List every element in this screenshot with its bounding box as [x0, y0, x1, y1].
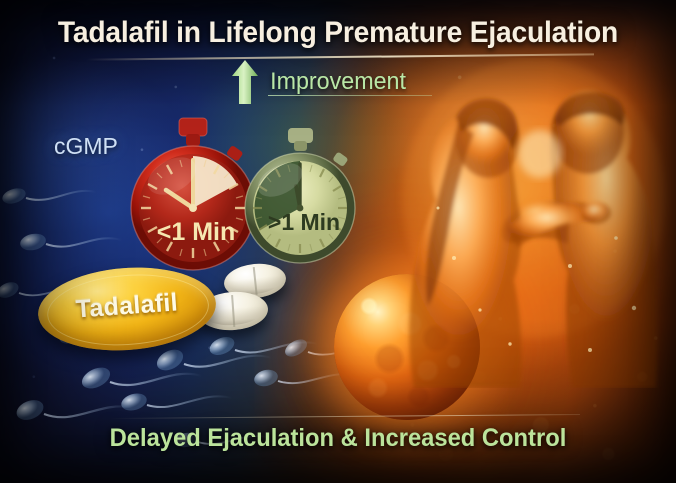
cgmp-label: cGMP — [54, 133, 118, 160]
arrow-up-icon — [232, 60, 258, 104]
infographic-poster: <1 Min — [0, 0, 676, 483]
improvement-indicator: Improvement — [232, 60, 408, 104]
improvement-divider — [268, 95, 432, 96]
outcome-caption: Delayed Ejaculation & Increased Control — [17, 424, 659, 453]
page-title: Tadalafil in Lifelong Premature Ejaculat… — [20, 16, 655, 50]
improvement-label: Improvement — [270, 68, 406, 96]
